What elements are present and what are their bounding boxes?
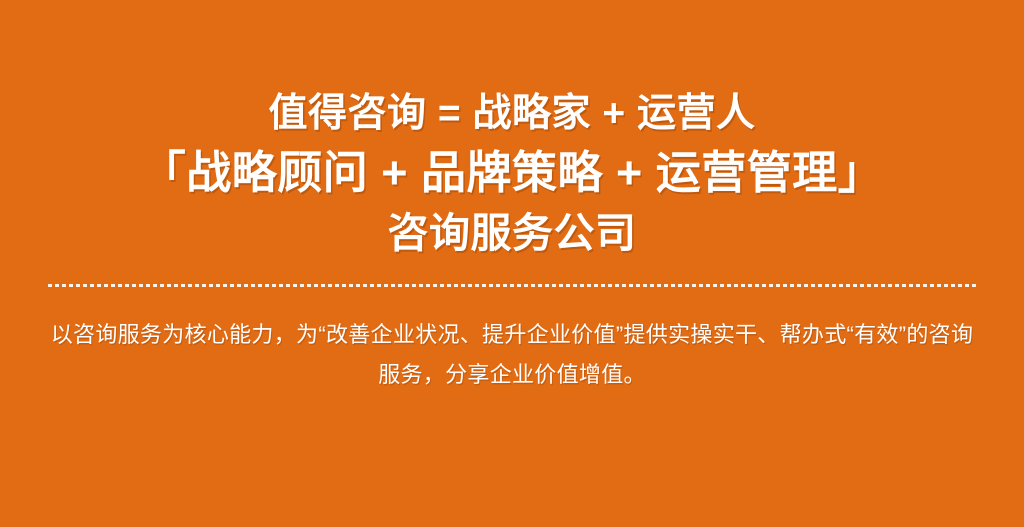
headline-line-2: 「战略顾问 + 品牌策略 + 运营管理」	[0, 146, 1024, 200]
body-paragraph: 以咨询服务为核心能力，为“改善企业状况、提升企业价值”提供实操实干、帮办式“有效…	[47, 315, 977, 395]
dotted-divider	[48, 284, 976, 287]
headline-block: 值得咨询 = 战略家 + 运营人 「战略顾问 + 品牌策略 + 运营管理」 咨询…	[0, 0, 1024, 258]
promo-banner: 值得咨询 = 战略家 + 运营人 「战略顾问 + 品牌策略 + 运营管理」 咨询…	[0, 0, 1024, 527]
headline-line-3: 咨询服务公司	[0, 208, 1024, 258]
headline-line-1: 值得咨询 = 战略家 + 运营人	[0, 91, 1024, 137]
divider-container	[48, 284, 976, 287]
